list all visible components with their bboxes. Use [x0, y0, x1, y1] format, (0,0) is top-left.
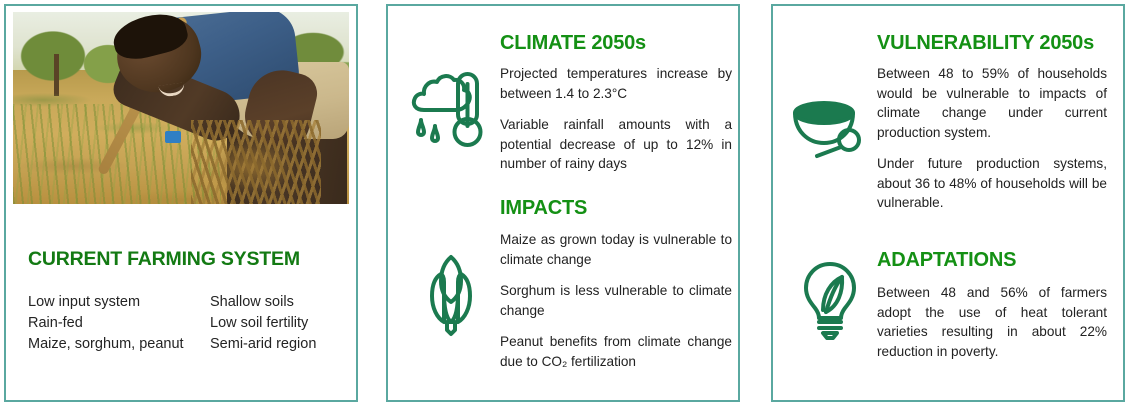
maize-cob-icon: [424, 252, 478, 338]
vulnerability-2050s-body: Between 48 to 59% of households would be…: [877, 64, 1107, 213]
impacts-body: Maize as grown today is vulnerable to cl…: [500, 230, 732, 371]
climate-2050s-heading: CLIMATE 2050s: [500, 32, 646, 55]
impacts-paragraph: Maize as grown today is vulnerable to cl…: [500, 230, 732, 269]
farming-attribute: Shallow soils: [210, 292, 338, 313]
vulnerability-paragraph: Between 48 to 59% of households would be…: [877, 64, 1107, 142]
panel-current-farming-system: CURRENT FARMING SYSTEM Low input system …: [4, 4, 358, 402]
climate-paragraph: Variable rainfall amounts with a potenti…: [500, 115, 732, 174]
photo-blue-container: [165, 131, 181, 143]
climate-adaptation-infographic: CURRENT FARMING SYSTEM Low input system …: [0, 0, 1134, 408]
climate-paragraph: Projected temperatures increase by betwe…: [500, 64, 732, 103]
farming-attribute: Low input system: [28, 292, 210, 313]
vulnerability-2050s-heading: VULNERABILITY 2050s: [877, 32, 1094, 55]
adaptations-body: Between 48 and 56% of farmers adopt the …: [877, 283, 1107, 361]
impacts-paragraph: Peanut benefits from climate change due …: [500, 332, 732, 371]
climate-2050s-body: Projected temperatures increase by betwe…: [500, 64, 732, 174]
farming-attribute: Low soil fertility: [210, 313, 338, 334]
farming-attribute: Semi-arid region: [210, 334, 338, 355]
impacts-heading: IMPACTS: [500, 197, 587, 220]
current-farming-system-heading: CURRENT FARMING SYSTEM: [28, 248, 300, 271]
adaptations-paragraph: Between 48 and 56% of farmers adopt the …: [877, 283, 1107, 361]
photo-harvested-peanut-plants: [191, 120, 321, 204]
panel-vulnerability-and-adaptations: VULNERABILITY 2050s Between 48 to 59% of…: [771, 4, 1125, 402]
adaptations-heading: ADAPTATIONS: [877, 249, 1016, 272]
cloud-rain-thermometer-icon: [408, 68, 486, 152]
farmer-photo-scene: [13, 12, 349, 204]
farming-attribute: Maize, sorghum, peanut: [28, 334, 210, 355]
panel-climate-and-impacts: CLIMATE 2050s Projected temperatures inc…: [386, 4, 740, 402]
farming-attribute: Rain-fed: [28, 313, 210, 334]
farming-attributes-list: Low input system Shallow soils Rain-fed …: [28, 292, 338, 355]
lightbulb-leaf-icon: [799, 260, 861, 340]
farmer-photo: [13, 12, 349, 204]
vulnerability-paragraph: Under future production systems, about 3…: [877, 154, 1107, 213]
bowl-spoon-icon: [791, 98, 865, 160]
impacts-paragraph: Sorghum is less vulnerable to climate ch…: [500, 281, 732, 320]
